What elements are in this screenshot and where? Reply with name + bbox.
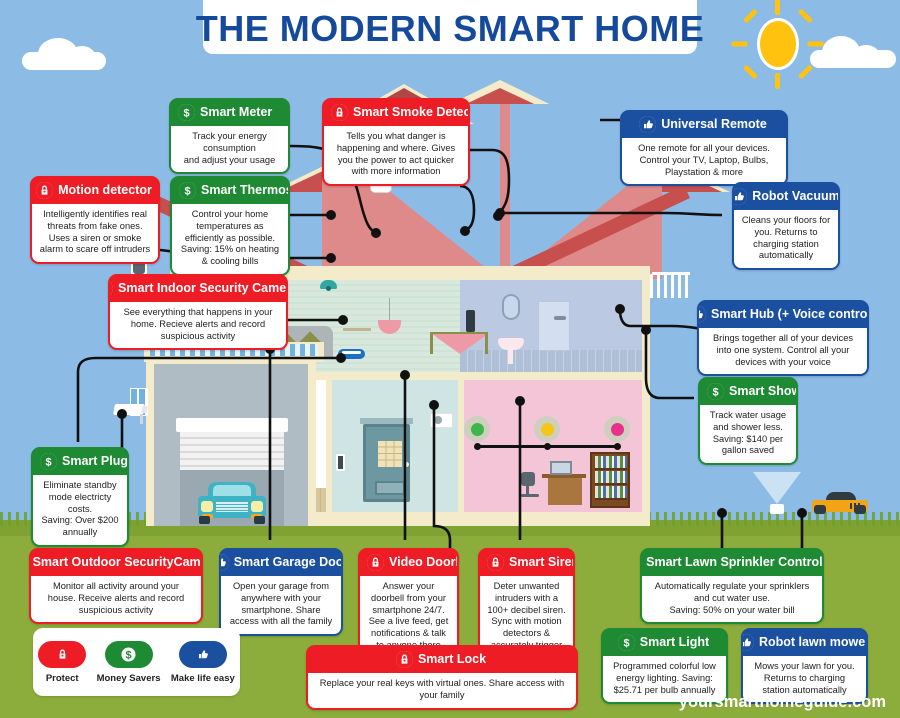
card-title: Smart Siren	[509, 556, 575, 569]
dollar-icon: $	[40, 453, 57, 470]
office-desk	[548, 478, 582, 505]
garage-door-panels	[180, 432, 284, 470]
thumb-up-icon	[697, 306, 706, 323]
card-smart-thermostat[interactable]: $ Smart Thermostat Control your home tem…	[170, 176, 290, 276]
svg-text:$: $	[183, 107, 189, 119]
svg-text:$: $	[184, 185, 190, 197]
card-title: Universal Remote	[661, 118, 767, 131]
card-smart-garage-door[interactable]: Smart Garage Door Open your garage from …	[219, 548, 343, 636]
bathroom-sink-stem	[508, 348, 513, 364]
legend: Protect $ Money Savers Make life easy	[33, 628, 240, 696]
card-header: Smart Hub (+ Voice control)	[699, 302, 867, 328]
dollar-icon: $	[179, 182, 196, 199]
lock-icon	[108, 280, 113, 297]
card-body: See everything that happens in your home…	[110, 302, 286, 348]
card-header: Video Doorbell	[360, 550, 457, 576]
legend-item-make-life-easy[interactable]: Make life easy	[171, 641, 235, 684]
card-body: Monitor all activity around your house. …	[31, 576, 201, 622]
card-title: Smart Lawn Sprinkler Controller	[646, 556, 824, 569]
card-header: $ Smart Lawn Sprinkler Controller	[642, 550, 822, 576]
table-cloth	[432, 334, 488, 354]
card-smart-outdoor-security-camera[interactable]: Smart Outdoor SecurityCamera Monitor all…	[29, 548, 203, 624]
card-body: Tells you what danger is happening and w…	[324, 126, 468, 184]
card-header: $ Smart Shower	[700, 379, 796, 405]
lock-icon	[396, 651, 413, 668]
card-body: Control your home temperatures as effici…	[172, 204, 288, 274]
card-smart-smoke-detector[interactable]: Smart Smoke Detector Tells you what dang…	[322, 98, 470, 186]
legend-label: Money Savers	[97, 673, 161, 684]
thumb-up-icon	[179, 641, 227, 668]
smart-shower-head	[554, 316, 566, 320]
thumb-up-icon	[741, 634, 754, 651]
card-robot-vacuum[interactable]: Robot Vacuum Cleans your floors for you.…	[732, 182, 840, 270]
shower-enclosure	[538, 301, 570, 351]
office-laptop	[550, 461, 572, 475]
smart-lock-device	[404, 462, 409, 467]
card-universal-remote[interactable]: Universal Remote One remote for all your…	[620, 110, 788, 186]
legend-item-protect[interactable]: Protect	[38, 641, 86, 684]
thumb-up-icon	[732, 188, 747, 205]
infographic-canvas: THE MODERN SMART HOME	[0, 0, 900, 718]
pendant-lamp-cord	[389, 298, 390, 320]
lock-icon	[367, 554, 384, 571]
card-smart-plug[interactable]: $ Smart Plug Eliminate standby mode elec…	[31, 447, 129, 547]
card-smart-lock[interactable]: Smart Lock Replace your real keys with v…	[306, 645, 578, 710]
robot-mower-device	[812, 492, 868, 514]
card-body: Eliminate standby mode electricty costs.…	[33, 475, 127, 545]
robot-vacuum-device	[338, 349, 365, 359]
card-smart-shower[interactable]: $ Smart Shower Track water usage and sho…	[698, 377, 798, 465]
card-title: Smart Lock	[418, 653, 486, 666]
smart-light-bulb-green	[464, 416, 490, 442]
office-bookcase	[590, 452, 630, 508]
card-title: Robot Vacuum	[752, 190, 840, 203]
card-title: Smart Thermostat	[201, 184, 290, 197]
legend-label: Make life easy	[171, 673, 235, 684]
thumb-up-icon	[219, 554, 229, 571]
card-header: Smart Indoor Security Camera	[110, 276, 286, 302]
lock-icon	[487, 554, 504, 571]
card-header: $ Smart Thermostat	[172, 178, 288, 204]
dollar-icon: $	[707, 383, 724, 400]
dining-chair-left	[430, 332, 433, 354]
card-motion-detector[interactable]: Motion detector Intelligently identifies…	[30, 176, 160, 264]
legend-item-money-savers[interactable]: $ Money Savers	[97, 641, 161, 684]
page-title: THE MODERN SMART HOME	[196, 8, 705, 50]
light-rail-dot-2	[544, 443, 551, 450]
svg-text:$: $	[712, 386, 718, 398]
legend-label: Protect	[46, 673, 79, 684]
lock-icon	[36, 182, 53, 199]
card-header: Smart Smoke Detector	[324, 100, 468, 126]
dollar-icon: $	[178, 104, 195, 121]
svg-text:$: $	[45, 456, 51, 468]
balcony-railing	[650, 274, 690, 298]
card-header: $ Smart Light	[603, 630, 726, 656]
smart-light-bulb-yellow	[534, 416, 560, 442]
light-rail-dot-1	[474, 443, 481, 450]
bathroom-mirror	[502, 294, 520, 320]
living-shelf	[343, 328, 371, 331]
smart-light-bulb-pink	[604, 416, 630, 442]
card-body: One remote for all your devices. Control…	[622, 138, 786, 184]
card-title: Video Doorbell	[389, 556, 459, 569]
car	[198, 482, 266, 524]
dollar-icon: $	[618, 634, 635, 651]
card-header: Smart Garage Door	[221, 550, 341, 576]
thumb-up-icon	[639, 116, 656, 133]
card-title: Smart Outdoor SecurityCamera	[33, 556, 203, 569]
garage-door-header	[176, 418, 288, 432]
card-title: Motion detector	[58, 184, 152, 197]
card-body: Automatically regulate your sprinklers a…	[642, 576, 822, 622]
card-header: $ Smart Plug	[33, 449, 127, 475]
card-body: Track your energy consumption and adjust…	[171, 126, 288, 172]
card-body: Cleans your floors for you. Returns to c…	[734, 210, 838, 268]
card-header: Robot Vacuum	[734, 184, 838, 210]
card-title: Smart Meter	[200, 106, 272, 119]
card-smart-indoor-security-camera[interactable]: Smart Indoor Security Camera See everyth…	[108, 274, 288, 350]
card-body: Open your garage from anywhere with your…	[221, 576, 341, 634]
cloud-right	[810, 50, 896, 68]
office-chair	[521, 472, 539, 498]
indoor-camera-device	[320, 280, 337, 289]
card-header: Motion detector	[32, 178, 158, 204]
card-header: Smart Outdoor SecurityCamera	[31, 550, 201, 576]
website-footer: yoursmarthomeguide.com	[679, 693, 886, 712]
dining-chair-right	[485, 332, 488, 354]
card-body: Replace your real keys with virtual ones…	[308, 673, 576, 708]
card-header: Smart Lock	[308, 647, 576, 673]
light-rail-dot-3	[614, 443, 621, 450]
video-doorbell-device	[336, 454, 345, 471]
smart-siren-device	[430, 413, 453, 428]
balcony-railing-2	[652, 272, 690, 275]
card-header: Robot lawn mower	[743, 630, 866, 656]
card-smart-hub[interactable]: Smart Hub (+ Voice control) Brings toget…	[697, 300, 869, 376]
card-body: Brings together all of your devices into…	[699, 328, 867, 374]
sprinkler-device	[770, 504, 784, 514]
card-body: Intelligently identifies real threats fr…	[32, 204, 158, 262]
card-title: Robot lawn mower	[759, 636, 868, 649]
card-video-doorbell[interactable]: Video Doorbell Answer your doorbell from…	[358, 548, 459, 660]
card-header: Universal Remote	[622, 112, 786, 138]
card-body: Track water usage and shower less. Savin…	[700, 405, 796, 463]
card-title: Smart Indoor Security Camera	[118, 282, 288, 295]
cloud-left	[22, 52, 106, 70]
svg-text:$: $	[125, 649, 131, 661]
card-title: Smart Hub (+ Voice control)	[711, 308, 869, 321]
card-smart-meter[interactable]: $ Smart Meter Track your energy consumpt…	[169, 98, 290, 174]
card-header: Smart Siren	[480, 550, 573, 576]
card-title: Smart Shower	[729, 385, 798, 398]
card-header: $ Smart Meter	[171, 100, 288, 126]
title-plate: THE MODERN SMART HOME	[203, 0, 697, 54]
front-door	[363, 424, 410, 502]
smart-hub-speaker	[466, 310, 475, 332]
card-title: Smart Light	[640, 636, 709, 649]
card-title: Smart Garage Door	[234, 556, 343, 569]
card-title: Smart Plug	[62, 455, 128, 468]
lock-icon	[38, 641, 86, 668]
sprinkler-spray	[753, 472, 801, 504]
card-title: Smart Smoke Detector	[353, 106, 470, 119]
card-smart-siren[interactable]: Smart Siren Deter unwanted intruders wit…	[478, 548, 575, 660]
svg-text:$: $	[623, 637, 629, 649]
lock-icon	[331, 104, 348, 121]
card-smart-lawn-sprinkler-controller[interactable]: $ Smart Lawn Sprinkler Controller Automa…	[640, 548, 824, 624]
dollar-icon: $	[640, 554, 641, 571]
dollar-icon: $	[105, 641, 153, 668]
